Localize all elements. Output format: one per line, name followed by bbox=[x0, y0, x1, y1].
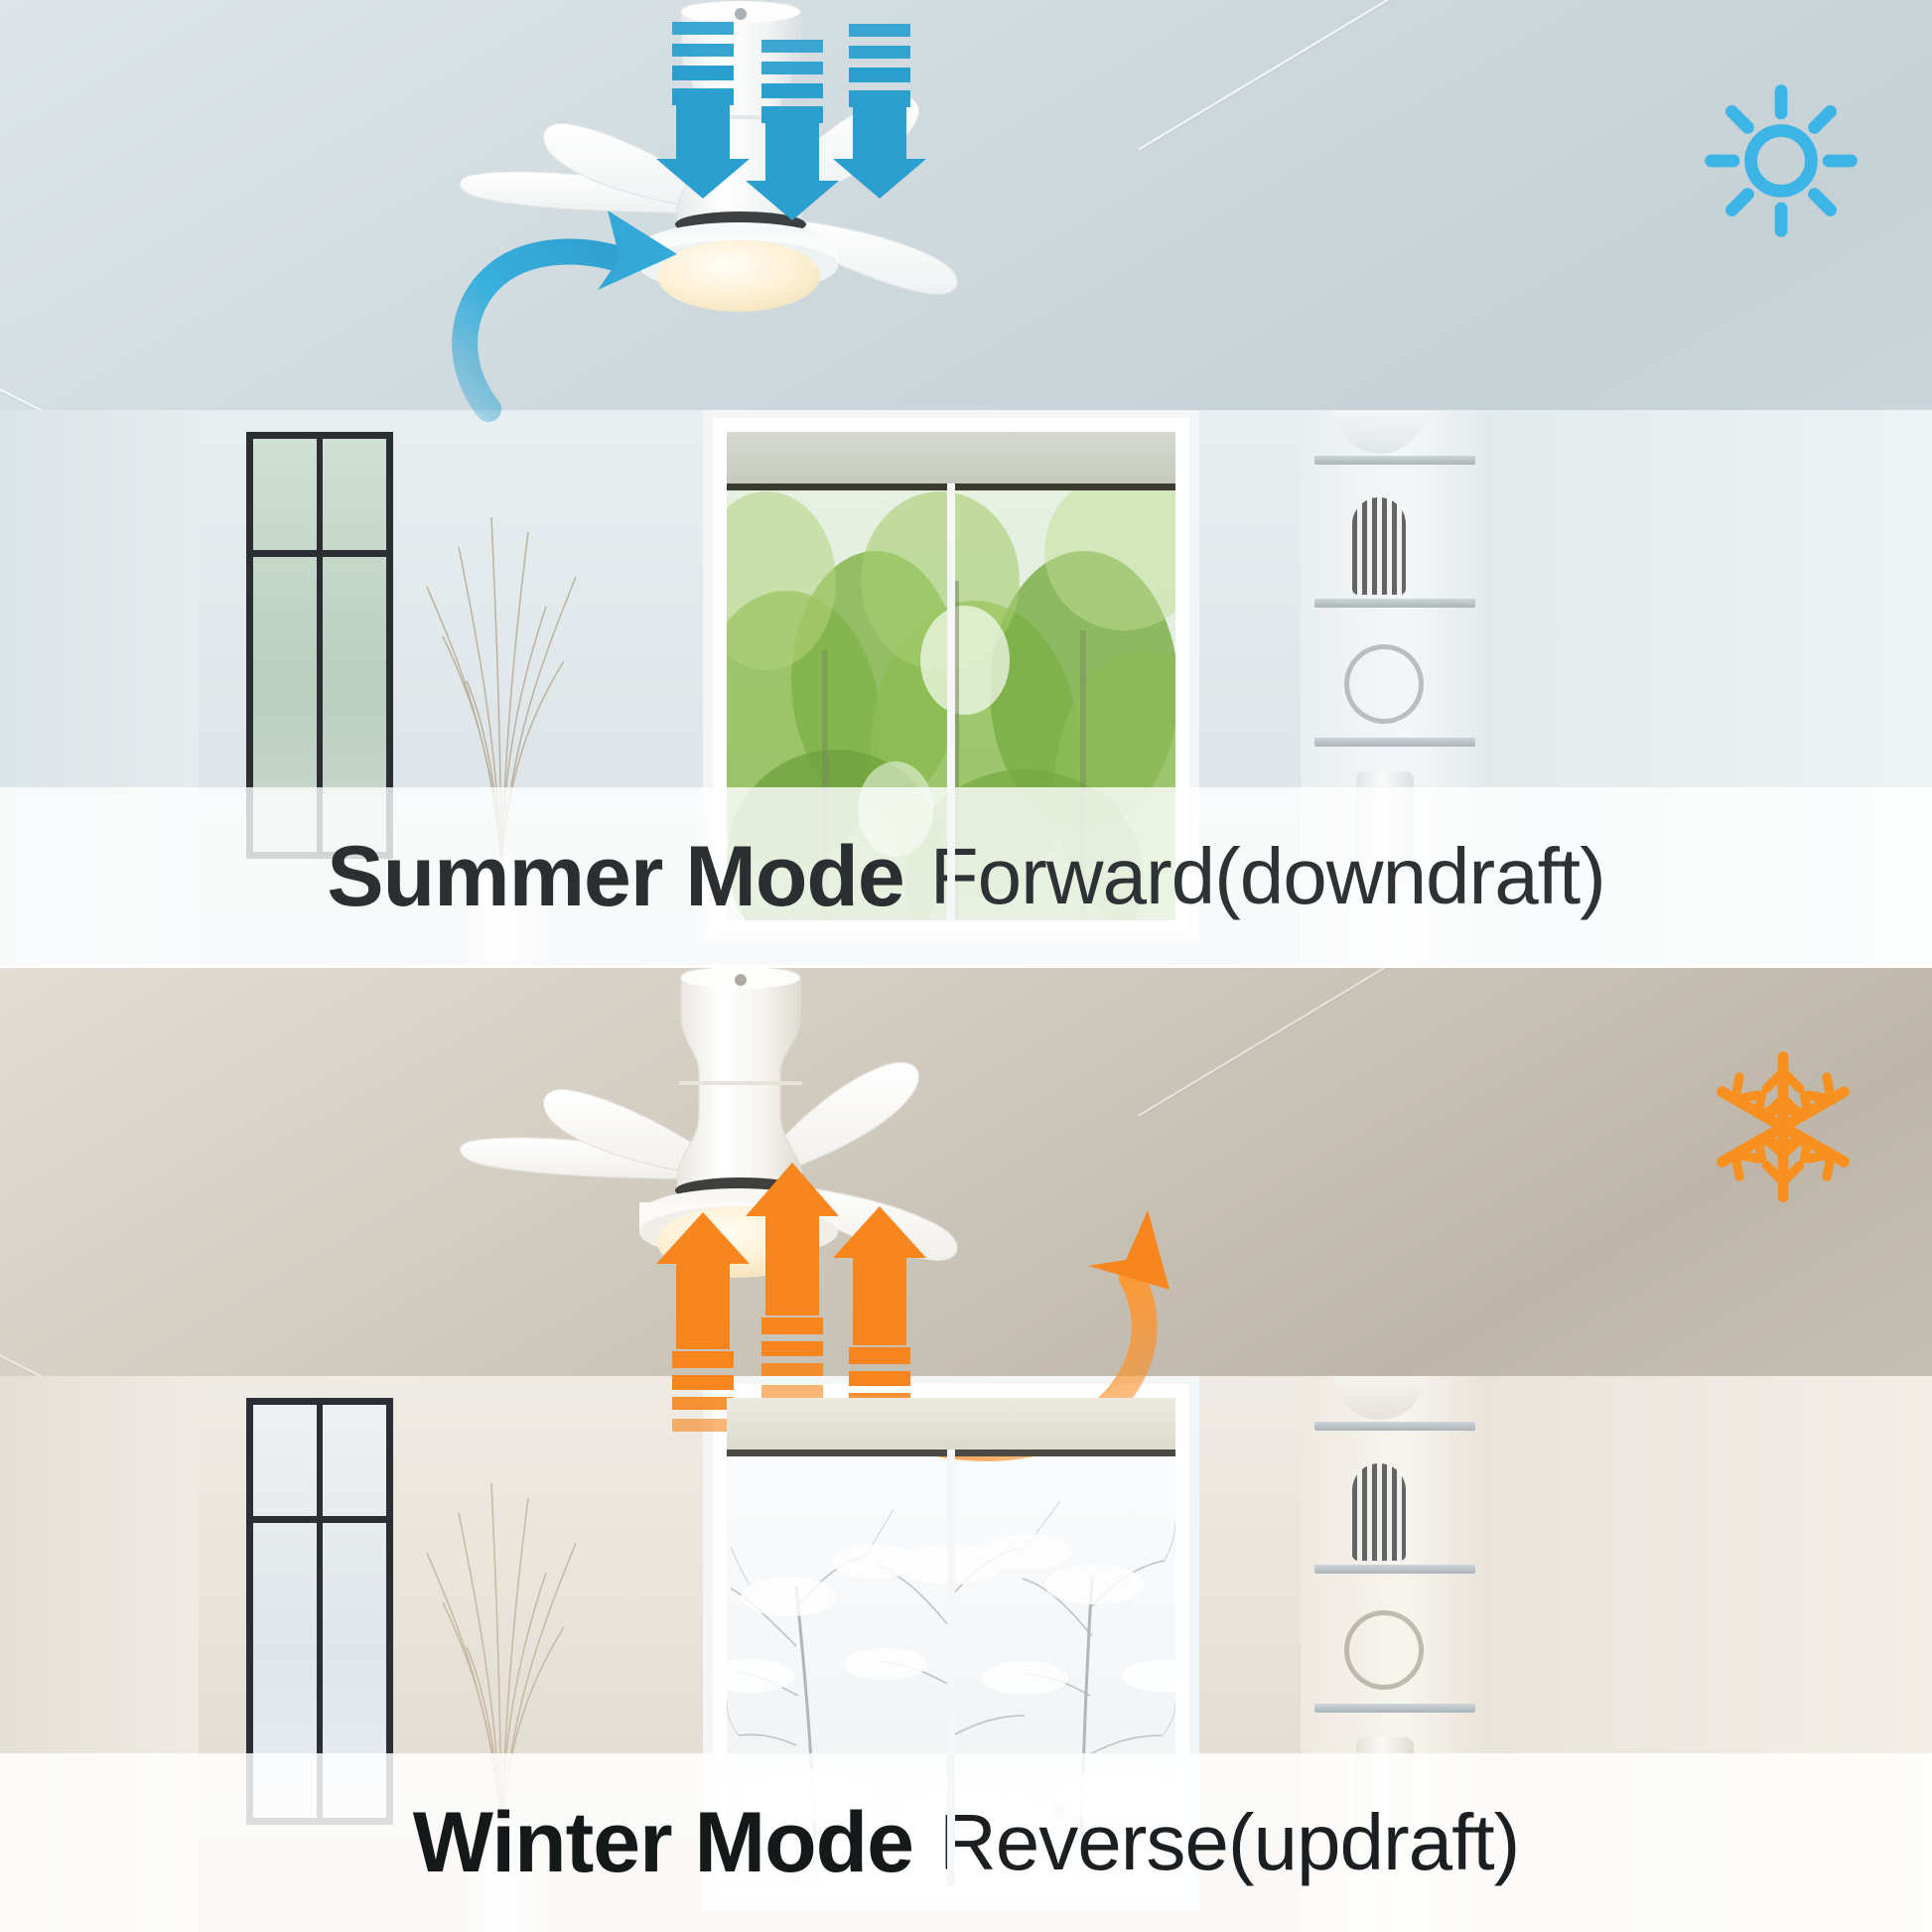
winter-mode-subtitle: Reverse(updraft) bbox=[939, 1797, 1519, 1888]
snowflake-icon bbox=[1700, 1043, 1866, 1210]
shelf-bottom bbox=[1314, 1704, 1475, 1713]
summer-mode-subtitle: Forward(downdraft) bbox=[930, 831, 1605, 922]
pendant-lamp bbox=[1334, 1376, 1426, 1420]
summer-mode-panel: Summer Mode Forward(downdraft) bbox=[0, 0, 1932, 966]
ceiling-fan-winter bbox=[387, 966, 1082, 1304]
pendant-lamp bbox=[1334, 410, 1426, 454]
winter-mode-panel: Winter Mode Reverse(updraft) bbox=[0, 966, 1932, 1932]
shelf-middle bbox=[1314, 599, 1475, 608]
panel-divider bbox=[0, 965, 1932, 968]
sun-icon bbox=[1702, 81, 1861, 240]
window-valance bbox=[727, 432, 1175, 490]
ceiling-fan-summer bbox=[387, 0, 1082, 338]
main-window-mullion bbox=[947, 483, 955, 920]
shelf-object-sculpture bbox=[1352, 1463, 1406, 1561]
shelf-top bbox=[1314, 456, 1475, 465]
winter-mode-banner: Winter Mode Reverse(updraft) bbox=[0, 1753, 1932, 1932]
shelf-object-sculpture bbox=[1352, 497, 1406, 595]
shelf-bottom bbox=[1314, 738, 1475, 747]
window-valance bbox=[727, 1398, 1175, 1456]
main-window-mullion bbox=[947, 1449, 955, 1886]
shelf-object-ring bbox=[1344, 1610, 1424, 1690]
summer-mode-banner: Summer Mode Forward(downdraft) bbox=[0, 787, 1932, 966]
summer-mode-title: Summer Mode bbox=[327, 828, 904, 926]
winter-mode-title: Winter Mode bbox=[413, 1794, 913, 1892]
infographic-stage: Summer Mode Forward(downdraft) bbox=[0, 0, 1932, 1932]
shelf-top bbox=[1314, 1422, 1475, 1431]
shelf-middle bbox=[1314, 1565, 1475, 1574]
shelf-object-ring bbox=[1344, 644, 1424, 724]
